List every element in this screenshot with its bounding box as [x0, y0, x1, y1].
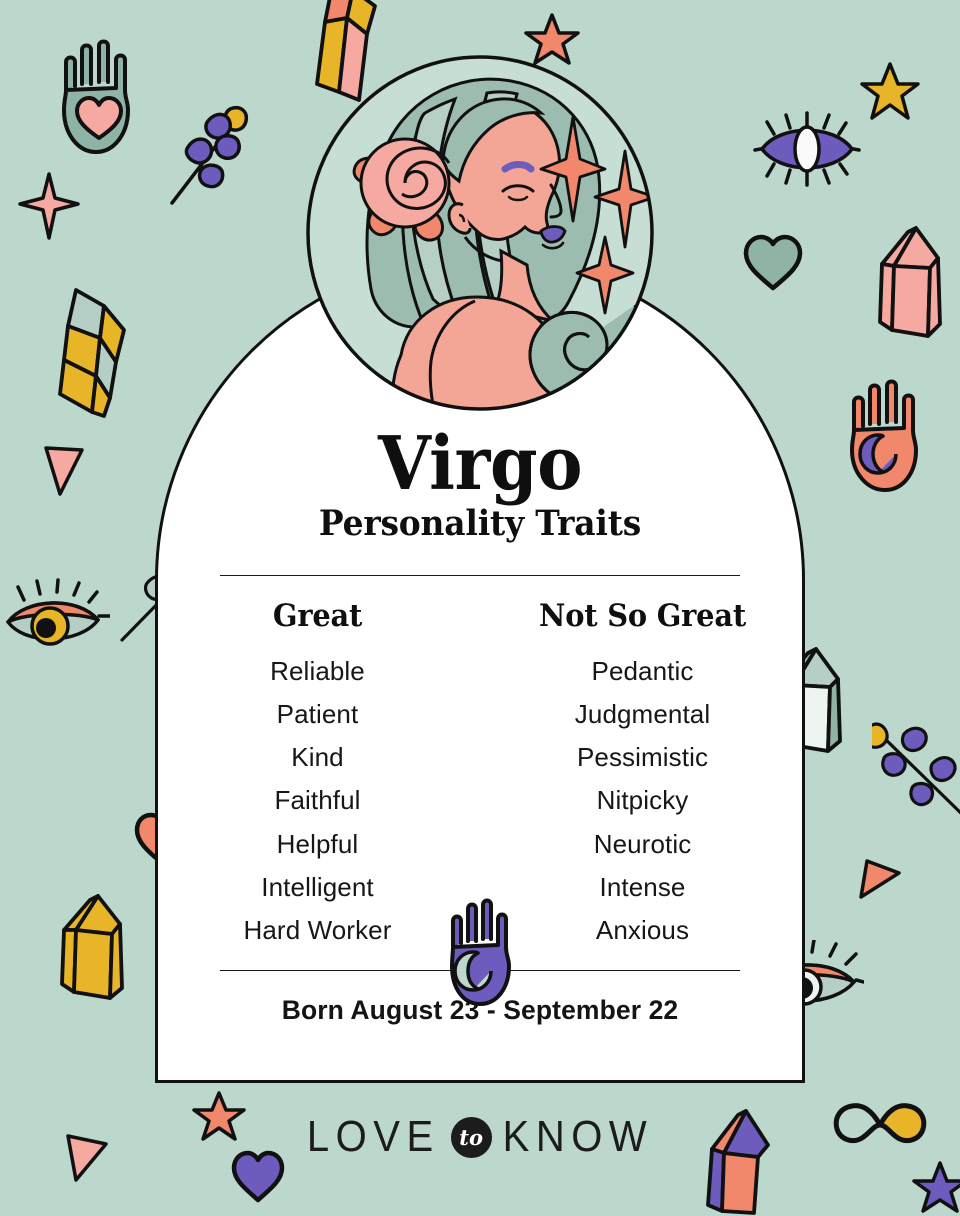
crystal-pink-icon	[874, 222, 954, 347]
hand-with-moon-purple-icon	[435, 895, 527, 1013]
divider-top	[220, 575, 740, 576]
trait-item: Pessimistic	[480, 736, 805, 779]
sparkle-star-icon	[18, 172, 80, 240]
logo-word-to: to	[459, 1125, 483, 1150]
poster-canvas: Virgo Personality Traits Great Reliable …	[0, 0, 960, 1200]
trait-item: Patient	[155, 693, 480, 736]
leaf-branch-purple-icon	[150, 95, 260, 210]
column-heading-not-so-great: Not So Great	[491, 598, 793, 634]
brand-logo[interactable]: LOVE to KNOW	[0, 1115, 960, 1160]
page-subtitle: Personality Traits	[175, 504, 786, 544]
trait-item: Helpful	[155, 823, 480, 866]
trait-item: Hard Worker	[155, 909, 480, 952]
eye-purple-icon	[752, 110, 862, 200]
trait-item: Judgmental	[480, 693, 805, 736]
trait-item: Pedantic	[480, 650, 805, 693]
dot-decoration-icon	[878, 640, 888, 650]
logo-word-know: KNOW	[503, 1113, 653, 1162]
crystal-yellow-bottom-icon	[58, 890, 138, 1015]
traits-column-great: Great Reliable Patient Kind Faithful Hel…	[155, 598, 480, 952]
star-purple-icon	[912, 1160, 960, 1216]
trait-item: Neurotic	[480, 823, 805, 866]
hand-with-moon-coral-icon	[832, 372, 942, 502]
star-yellow-icon	[860, 62, 920, 124]
hand-with-heart-icon	[42, 30, 157, 165]
logo-word-love: LOVE	[307, 1113, 440, 1162]
trait-item: Faithful	[155, 779, 480, 822]
traits-column-not-so-great: Not So Great Pedantic Judgmental Pessimi…	[480, 598, 805, 952]
eye-yellow-icon	[0, 578, 110, 666]
triangle-coral-icon	[855, 855, 905, 903]
leaf-branch-purple-right-icon	[872, 720, 960, 835]
crystal-yellow-mint-icon	[38, 280, 163, 425]
column-heading-great: Great	[166, 598, 468, 634]
trait-item: Intense	[480, 866, 805, 909]
trait-item: Reliable	[155, 650, 480, 693]
triangle-pink-icon	[40, 442, 88, 500]
trait-item: Anxious	[480, 909, 805, 952]
title-block: Virgo Personality Traits	[155, 430, 805, 544]
logo-badge-to: to	[451, 1117, 492, 1158]
trait-item: Nitpicky	[480, 779, 805, 822]
trait-item: Kind	[155, 736, 480, 779]
trait-item: Intelligent	[155, 866, 480, 909]
page-title: Virgo	[181, 430, 779, 498]
